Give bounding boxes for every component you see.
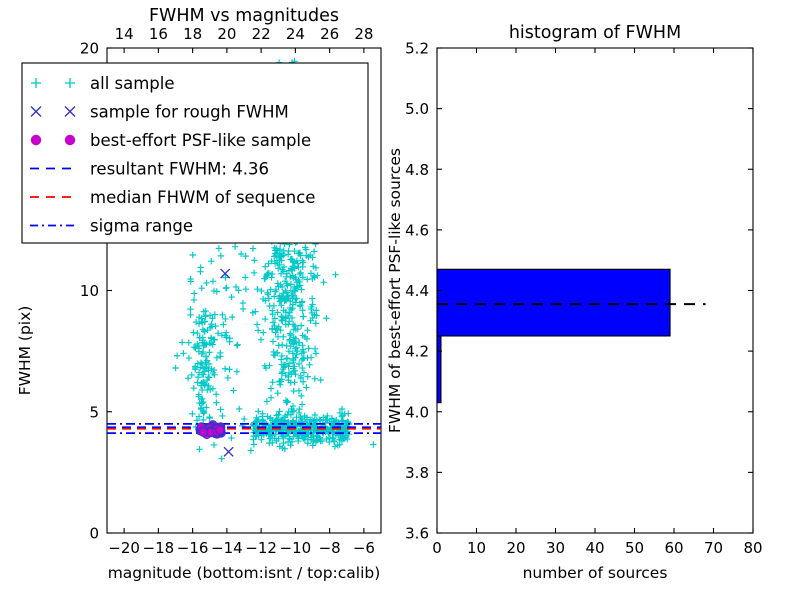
yticklabel: 4.6 [405,221,429,239]
legend: all samplesample for rough FWHMbest-effo… [22,63,368,243]
xticklabel-bottom: −14 [211,539,243,557]
legend-label: sample for rough FWHM [90,103,289,122]
xticklabel-bottom: −12 [245,539,277,557]
legend-marker-dot-icon [65,135,75,145]
xticklabel-top: 14 [115,25,134,43]
xticklabel: 60 [664,539,683,557]
right-plot-title: histogram of FWHM [509,23,681,43]
legend-label: all sample [90,74,175,93]
xticklabel-top: 28 [354,25,373,43]
yticklabel: 20 [80,40,99,58]
legend-marker-dot-icon [31,135,41,145]
xticklabel-top: 20 [217,25,236,43]
xticklabel: 50 [625,539,644,557]
xticklabel-top: 16 [149,25,168,43]
series-psf-like-sample [196,421,225,439]
yticklabel: 10 [80,282,99,300]
histogram-bar [437,269,670,336]
xticklabel: 10 [467,539,486,557]
legend-label: median FHWM of sequence [90,188,315,207]
legend-label: best-effort PSF-like sample [90,131,311,150]
xticklabel: 80 [743,539,762,557]
xticklabel: 0 [432,539,442,557]
marker-psf-dot [216,426,224,434]
yticklabel: 3.8 [405,464,429,482]
left-yaxis-label: FWHM (pix) [16,306,34,396]
left-xaxis-label: magnitude (bottom:isnt / top:calib) [108,564,381,582]
right-xaxis-label: number of sources [523,564,668,582]
legend-label: resultant FWHM: 4.36 [90,160,269,179]
xticklabel-bottom: −18 [143,539,175,557]
figure-canvas: −20−18−16−14−12−10−8−6141618202224262805… [0,0,800,600]
xticklabel-bottom: −10 [280,539,312,557]
left-plot-title: FWHM vs magnitudes [149,6,339,26]
yticklabel: 4.4 [405,282,429,300]
yticklabel: 5 [89,403,99,421]
right-yaxis-label: FWHM of best-effort PSF-like sources [386,148,404,433]
legend-box [22,63,368,243]
marker-psf-dot [199,428,207,436]
xticklabel: 20 [506,539,525,557]
yticklabel: 0 [89,525,99,543]
yticklabel: 3.6 [405,525,429,543]
xticklabel-top: 22 [252,25,271,43]
xticklabel-bottom: −8 [319,539,341,557]
xticklabel-bottom: −20 [108,539,140,557]
xticklabel-top: 18 [183,25,202,43]
xticklabel: 30 [546,539,565,557]
xticklabel-bottom: −6 [353,539,375,557]
xticklabel: 40 [585,539,604,557]
yticklabel: 4.2 [405,343,429,361]
yticklabel: 5.0 [405,100,429,118]
xticklabel-bottom: −16 [177,539,209,557]
yticklabel: 5.2 [405,40,429,58]
legend-label: sigma range [90,217,193,236]
xticklabel-top: 26 [320,25,339,43]
xticklabel: 70 [704,539,723,557]
yticklabel: 4.8 [405,161,429,179]
yticklabel: 4.0 [405,403,429,421]
xticklabel-top: 24 [286,25,305,43]
plot-svg: −20−18−16−14−12−10−8−6141618202224262805… [0,0,800,600]
histogram-bar [437,336,441,403]
right-plot-panel: 010203040506070803.63.84.04.24.44.64.85.… [386,23,763,582]
